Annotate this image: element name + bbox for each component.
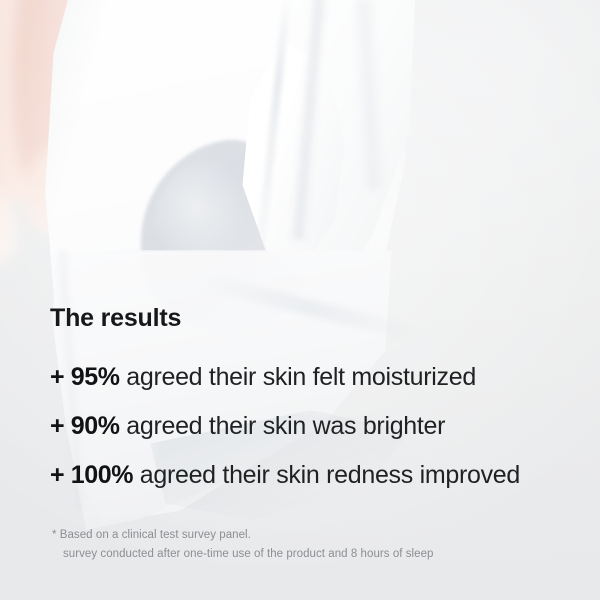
stat-value-90: + 90% xyxy=(50,412,120,440)
stat-row-moisturized: + 95% agreed their skin felt moisturized xyxy=(50,365,570,390)
stat-text-brighter: agreed their skin was brighter xyxy=(120,412,446,440)
results-copy-block: The results + 95% agreed their skin felt… xyxy=(50,306,570,488)
stat-value-100: + 100% xyxy=(50,461,133,489)
footnote: * Based on a clinical test survey panel.… xyxy=(52,526,572,564)
page-title: The results xyxy=(50,306,570,331)
footnote-line-2: survey conducted after one-time use of t… xyxy=(52,545,572,564)
stat-value-95: + 95% xyxy=(50,363,120,391)
footnote-line-1: * Based on a clinical test survey panel. xyxy=(52,529,251,541)
promo-card: The results + 95% agreed their skin felt… xyxy=(0,0,600,600)
stat-text-moisturized: agreed their skin felt moisturized xyxy=(120,363,476,391)
stat-row-redness: + 100% agreed their skin redness improve… xyxy=(50,463,570,488)
stat-row-brighter: + 90% agreed their skin was brighter xyxy=(50,414,570,439)
stat-text-redness: agreed their skin redness improved xyxy=(133,461,520,489)
